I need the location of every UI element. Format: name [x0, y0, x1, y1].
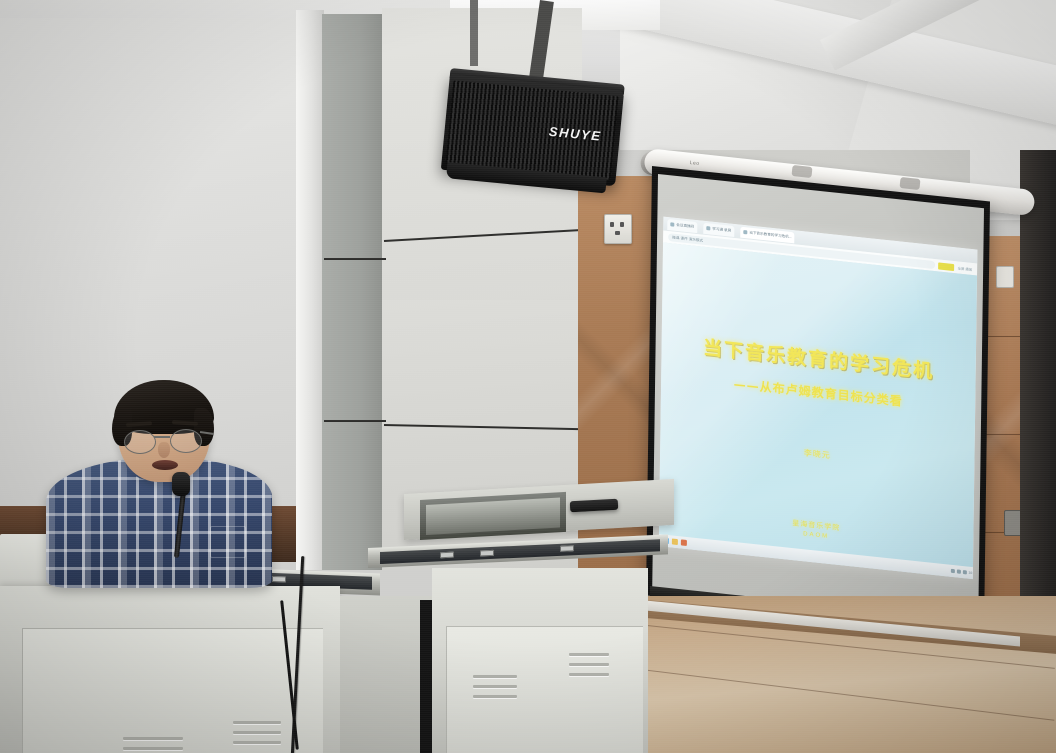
- volume-icon[interactable]: [956, 569, 960, 573]
- power-outlet[interactable]: [604, 214, 632, 244]
- projection-screen-surface: 会议直播间 学习通 录屏 当下音乐教育的学习危机... 微课·课件 演示模式 全…: [652, 174, 984, 622]
- slide-author: 李晓元: [660, 432, 974, 476]
- lecture-hall-photo: SHUYE Leo 会议直播间 学习通 录屏 当下音乐教育的学习危机...: [0, 0, 1056, 753]
- tab-favicon: [670, 222, 674, 226]
- screen-mount-bracket: [791, 165, 812, 178]
- presenter-nose: [158, 442, 170, 458]
- gray-column: [322, 14, 384, 570]
- white-column: [296, 10, 324, 570]
- light-switch[interactable]: [996, 266, 1014, 288]
- screen-mount-bracket: [899, 177, 920, 190]
- right-dark-recess: [1020, 150, 1056, 620]
- ime-icon[interactable]: [962, 570, 966, 574]
- shirt-pocket: [210, 526, 246, 558]
- folder-icon[interactable]: [672, 538, 678, 545]
- cabinet-door-left[interactable]: [22, 628, 323, 753]
- screen-brand-label: Leo: [689, 160, 699, 167]
- presentation-slide: 当下音乐教育的学习危机 ——从布卢姆教育目标分类看 李晓元 星海音乐学院 DAO…: [659, 243, 977, 580]
- browser-window[interactable]: 会议直播间 学习通 录屏 当下音乐教育的学习危机... 微课·课件 演示模式 全…: [659, 217, 978, 580]
- eyeglasses-icon: [170, 429, 202, 453]
- tab-favicon: [706, 226, 710, 230]
- presenter-mouth: [152, 460, 178, 470]
- wall-seam: [324, 258, 386, 260]
- loudspeaker-icon: SHUYE: [439, 74, 624, 200]
- eyeglasses-icon: [124, 430, 156, 454]
- eyeglasses-bridge: [154, 436, 170, 438]
- tab-favicon: [743, 230, 747, 234]
- taskbar-clock: 10:42: [968, 571, 977, 576]
- microphone-icon: [172, 472, 190, 496]
- highlight-action-button[interactable]: [939, 262, 955, 271]
- network-icon[interactable]: [950, 569, 954, 573]
- browser-icon[interactable]: [681, 539, 687, 546]
- presenter: [34, 386, 284, 586]
- speaker-hanger: [470, 0, 478, 66]
- cabinet-door-right[interactable]: [446, 626, 643, 753]
- wall-seam: [324, 420, 386, 422]
